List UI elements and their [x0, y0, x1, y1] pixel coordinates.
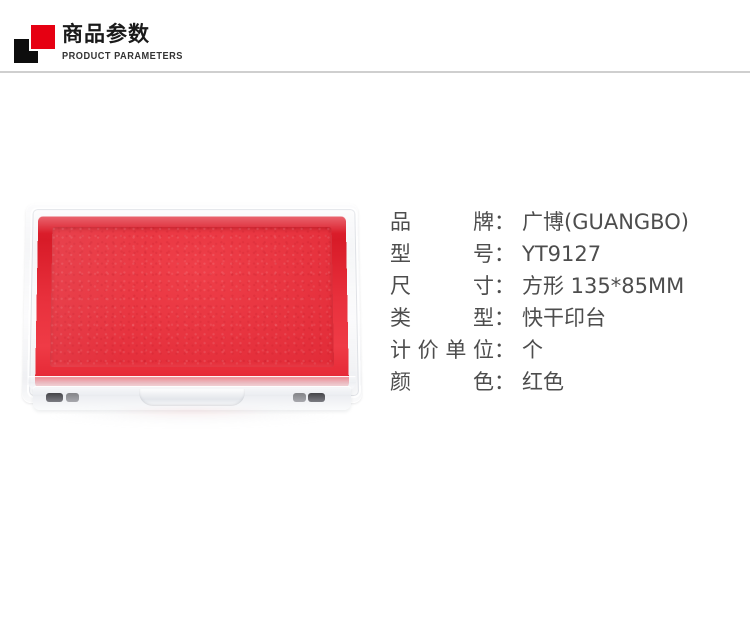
case-foot-left-2 — [66, 393, 79, 402]
spec-label-color: 颜色 — [390, 366, 494, 396]
page-subtitle: PRODUCT PARAMETERS — [62, 50, 183, 63]
spec-row-color: 颜色 ： 红色 — [390, 366, 738, 398]
spec-row-type: 类型 ： 快干印台 — [390, 302, 738, 334]
spec-value-brand: 广博(GUANGBO) — [522, 206, 738, 236]
spec-value-size: 方形 135*85MM — [522, 270, 738, 300]
overlapping-squares-logo — [14, 25, 56, 63]
logo-red-square — [31, 25, 55, 49]
spec-value-type: 快干印台 — [522, 302, 738, 332]
spec-colon: ： — [494, 270, 522, 300]
case-foot-right-2 — [293, 393, 306, 402]
spec-row-unit: 计价单位 ： 个 — [390, 334, 738, 366]
spec-row-size: 尺寸 ： 方形 135*85MM — [390, 270, 738, 302]
spec-label-size: 尺寸 — [390, 270, 494, 300]
spec-colon: ： — [494, 302, 522, 332]
case-latch-notch — [139, 389, 245, 406]
spec-label-type: 类型 — [390, 302, 494, 332]
spec-value-unit: 个 — [522, 334, 738, 364]
header-divider — [0, 71, 750, 73]
red-ink-pad-surface — [50, 227, 334, 367]
page-title: 商品参数 — [62, 22, 193, 47]
product-photo-stage — [8, 190, 376, 435]
spec-value-color: 红色 — [522, 366, 738, 396]
header-title-group: 商品参数 PRODUCT PARAMETERS — [62, 22, 193, 63]
product-image — [8, 190, 376, 435]
page-header: 商品参数 PRODUCT PARAMETERS — [0, 0, 750, 73]
spec-value-model: YT9127 — [522, 242, 738, 266]
spec-colon: ： — [494, 238, 522, 268]
spec-colon: ： — [494, 334, 522, 364]
product-reflection — [42, 409, 342, 425]
case-foot-right — [308, 393, 325, 402]
spec-label-unit: 计价单位 — [390, 334, 494, 364]
case-foot-left — [46, 393, 63, 402]
spec-row-model: 型号 ： YT9127 — [390, 238, 738, 270]
product-parameters-list: 品牌 ： 广博(GUANGBO) 型号 ： YT9127 尺寸 ： 方形 135… — [390, 206, 738, 398]
spec-colon: ： — [494, 366, 522, 396]
spec-colon: ： — [494, 206, 522, 236]
spec-row-brand: 品牌 ： 广博(GUANGBO) — [390, 206, 738, 238]
spec-label-model: 型号 — [390, 238, 494, 268]
spec-label-brand: 品牌 — [390, 206, 494, 236]
